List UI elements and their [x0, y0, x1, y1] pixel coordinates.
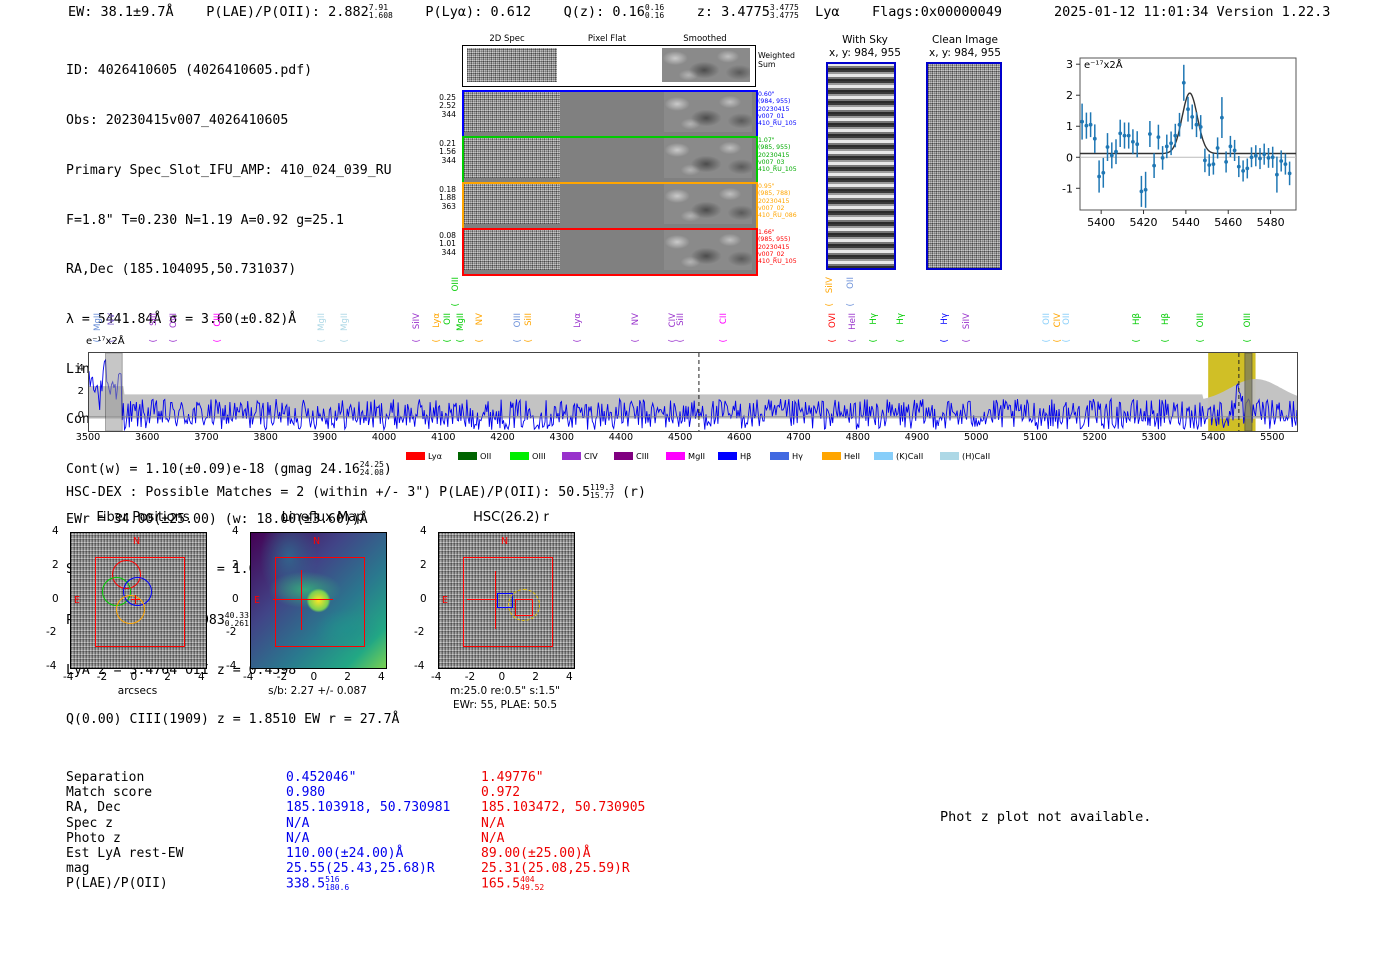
spectrum-xtick: 5100: [1023, 432, 1047, 443]
legend-label: MgII: [688, 451, 705, 461]
hsc-r-caption: m:25.0 re:0.5" s:1.5": [420, 685, 590, 697]
fiber-meta-line: (985, 955): [758, 144, 797, 151]
line-marker-Lyα-15: Lyα: [573, 313, 583, 328]
line-marker-OVI-21: OVI: [828, 313, 838, 328]
fiber-smoothed-image: [664, 184, 752, 224]
fiber-pixelflat-image: [560, 230, 661, 270]
header-z: z: 3.4775: [697, 4, 770, 20]
legend-item-HeII: HeII: [822, 451, 860, 461]
fiber-meta-line: (984, 955): [758, 98, 797, 105]
fiber-meta-2: 1.07"(985, 955)20230415v007_03410_RU_105: [758, 137, 797, 173]
match-row-label: Est LyA rest-EW: [66, 846, 281, 861]
emission-line-plot: 54005420544054605480-10123e⁻¹⁷x2Å: [1036, 44, 1304, 244]
fiber-positions-title: Fiber Positions: [58, 510, 228, 525]
fiber-meta-4: 1.66"(985, 955)20230415v007_02410_RU_105: [758, 229, 797, 265]
fiber-meta-3: 0.95"(985, 788)20230415v007_02410_RU_086: [758, 183, 797, 219]
line-marker-bracket: (: [340, 339, 350, 343]
hsc-crosshair-h: [467, 599, 497, 600]
cutout-ytick: 2: [232, 559, 239, 571]
spectrum-xtick: 5400: [1201, 432, 1225, 443]
spectrum-xtick: 5500: [1260, 432, 1284, 443]
legend-label: Hγ: [792, 451, 803, 461]
line-marker-bracket: (: [1132, 339, 1142, 343]
legend-item-OIII: OIII: [510, 451, 546, 461]
legend-label: (H)CaII: [962, 451, 990, 461]
fiber-center-mark-v: [135, 595, 136, 604]
line-marker-CIII-4: CIII: [213, 313, 223, 327]
line-marker-Hβ-31: Hβ: [1132, 313, 1142, 325]
line-marker-MgII-11: MgII: [456, 313, 466, 331]
fiber-2dspec-image: [464, 184, 560, 224]
info-seeing: F=1.8" T=0.230 N=1.19 A=0.92 g=25.1: [66, 213, 399, 230]
info-q-ciii: Q(0.00) CIII(1909) z = 1.8510 EW r = 27.…: [66, 712, 399, 729]
line-marker-OII-9: OII: [443, 313, 453, 325]
line-marker-OIII-10: OIII: [451, 277, 461, 291]
cutout-xtick: 2: [164, 671, 171, 683]
weighted-sum-pixelflat-image: [560, 48, 659, 82]
cutout-ytick: -2: [226, 626, 236, 638]
legend-item-Hβ: Hβ: [718, 451, 751, 461]
match-row-blue-value: 0.452046": [286, 770, 356, 785]
cutout-xtick: -2: [97, 671, 107, 683]
fiber-pixelflat-image: [560, 92, 661, 132]
match-row-red-value: 25.31(25.08,25.59)R: [481, 861, 630, 876]
cutout-ytick: 2: [52, 559, 59, 571]
legend-label: CIII: [636, 451, 649, 461]
match-row-label: Photo z: [66, 831, 281, 846]
legend-label: HeII: [844, 451, 860, 461]
svg-text:1: 1: [1066, 120, 1073, 133]
cutout-ytick: -4: [414, 660, 424, 672]
header-z-lo: 3.4775: [770, 12, 799, 20]
fiber-meta-line: 20230415: [758, 152, 797, 159]
lineflux-map-title: Lineflux Map: [238, 510, 408, 525]
cutout-xtick: -2: [465, 671, 475, 683]
fiber-meta-line: 20230415: [758, 244, 797, 251]
spectrum-xtick: 4900: [905, 432, 929, 443]
line-marker-bracket: (: [1161, 339, 1171, 343]
spec2d-title-pixelflat: Pixel Flat: [558, 34, 656, 44]
fiber-row-1: [462, 90, 758, 138]
cutout-xtick: -4: [431, 671, 441, 683]
legend-swatch: [458, 452, 477, 460]
spectrum-x-axis: 3500360037003800390040004100420043004400…: [88, 432, 1296, 448]
match-row-blue-value: N/A: [286, 816, 309, 831]
line-marker-NV-1: NV: [107, 313, 117, 325]
line-marker-bracket: (: [1062, 339, 1072, 343]
match-row-red-value: 1.49776": [481, 770, 544, 785]
blue-plae-lo: 180.6: [325, 884, 349, 892]
spec2d-title-smoothed: Smoothed: [660, 34, 750, 44]
line-marker-bracket: (: [475, 339, 485, 343]
fiber-row-3: [462, 182, 758, 230]
line-marker-MgII-6: MgII: [340, 313, 350, 331]
spectrum-xtick: 4600: [727, 432, 751, 443]
cutout-xtick: 4: [566, 671, 573, 683]
match-row-label: P(LAE)/P(OII): [66, 876, 281, 891]
fiber-weight-value: 344: [424, 111, 456, 119]
line-marker-bracket: (: [412, 339, 422, 343]
fiber-smoothed-image: [664, 138, 752, 178]
line-marker-OII-28: OII: [1042, 313, 1052, 325]
fiber-weights-3: 0.181.88363: [424, 186, 456, 211]
cutout-xtick: 4: [198, 671, 205, 683]
fiber-weight-value: 363: [424, 203, 456, 211]
compass-east-label: E: [442, 595, 448, 606]
svg-text:5400: 5400: [1087, 216, 1115, 229]
fiber-row-4: [462, 228, 758, 276]
spectrum-xtick: 4200: [490, 432, 514, 443]
legend-label: OII: [480, 451, 491, 461]
svg-text:5440: 5440: [1172, 216, 1200, 229]
cutout-xtick: 2: [344, 671, 351, 683]
weighted-sum-row: [462, 45, 756, 87]
fiber-meta-line: (985, 788): [758, 190, 797, 197]
spectrum-xtick: 4500: [668, 432, 692, 443]
spectrum-ytick: 0: [78, 410, 84, 421]
legend-item-KCaII: (K)CaII: [874, 451, 923, 461]
match-row-blue-value: 185.103918, 50.730981: [286, 800, 450, 815]
line-marker-bracket: (: [456, 339, 466, 343]
match-row-label: Match score: [66, 785, 281, 800]
cutout-ytick: 0: [52, 593, 59, 605]
svg-text:2: 2: [1066, 89, 1073, 102]
line-marker-SiIV-7: SiIV: [412, 313, 422, 329]
spectrum-xtick: 5300: [1142, 432, 1166, 443]
legend-swatch: [614, 452, 633, 460]
lineflux-crosshair-h: [273, 599, 333, 600]
line-marker-NV-16: NV: [631, 313, 641, 325]
match-row-red-value: N/A: [481, 816, 504, 831]
fiber-meta-line: 0.60": [758, 91, 797, 98]
fiber-meta-line: v007_02: [758, 251, 797, 258]
timestamp-version: 2025-01-12 11:01:34 Version 1.22.3: [1054, 4, 1330, 20]
svg-text:e⁻¹⁷x2Å: e⁻¹⁷x2Å: [1084, 58, 1123, 71]
compass-east-label: E: [74, 595, 80, 606]
line-marker-bracket: (: [1243, 339, 1253, 343]
spectrum-xtick: 4000: [372, 432, 396, 443]
header-plae-lo: 1.608: [369, 12, 393, 20]
compass-north-label: N: [313, 536, 320, 547]
cutout-fiber-positions: Fiber Positions N E -4-2024420-2-4 arcse…: [58, 510, 228, 700]
match-row-blue-value: 0.980: [286, 785, 325, 800]
with-sky-image: [826, 62, 896, 270]
line-marker-bracket: (: [573, 339, 583, 343]
lineflux-aperture-box: [275, 557, 365, 647]
line-marker-OII-30: OII: [1062, 313, 1072, 325]
legend-label: CIV: [584, 451, 598, 461]
weighted-sum-2dspec-image: [467, 48, 557, 82]
line-marker-OVI-3: OVI: [169, 313, 179, 328]
legend-swatch: [666, 452, 685, 460]
cutout-ytick: -4: [226, 660, 236, 672]
line-marker-Hγ-26: Hγ: [940, 313, 950, 325]
cutout-ytick: 4: [232, 525, 239, 537]
legend-item-CIII: CIII: [614, 451, 649, 461]
match-row-label: RA, Dec: [66, 800, 281, 815]
header-qz: Q(z): 0.16: [564, 4, 645, 20]
fiber-positions-image: N E: [70, 532, 207, 669]
match-row-label: Separation: [66, 770, 281, 785]
fiber-weight-value: 344: [424, 249, 456, 257]
header-plya: P(Lyα): 0.612: [425, 4, 531, 20]
line-marker-OIII-13: OIII: [513, 313, 523, 327]
spectrum-ytick: 4: [78, 363, 84, 374]
line-marker-bracket: (: [149, 339, 159, 343]
legend-label: (K)CaII: [896, 451, 923, 461]
match-row-red-value: 165.540449.52: [481, 876, 544, 892]
spectrum-xtick: 5200: [1082, 432, 1106, 443]
clean-image-title: Clean Image: [920, 34, 1010, 46]
line-marker-MgII-0: MgII: [93, 313, 103, 331]
line-marker-bracket: (: [896, 339, 906, 343]
fiber-smoothed-image: [664, 230, 752, 270]
cutout-ytick: -2: [414, 626, 424, 638]
match-row-label: mag: [66, 861, 281, 876]
line-marker-bracket: (: [443, 339, 453, 343]
spectrum-xtick: 4400: [609, 432, 633, 443]
cutout-xtick: 0: [311, 671, 318, 683]
fiber-row-2: [462, 136, 758, 184]
match-row-blue-value: N/A: [286, 831, 309, 846]
line-marker-SiIV-27: SiIV: [962, 313, 972, 329]
fiber-2dspec-image: [464, 92, 560, 132]
weighted-sum-label: Weighted Sum: [758, 51, 795, 69]
line-marker-bracket: (: [513, 339, 523, 343]
line-marker-Lyα-8: Lyα: [432, 313, 442, 328]
line-marker-bracket: (: [317, 339, 327, 343]
svg-text:5460: 5460: [1214, 216, 1242, 229]
fiber-pixelflat-image: [560, 184, 661, 224]
full-spectrum-plot: [88, 352, 1298, 432]
compass-north-label: N: [501, 536, 508, 547]
fiber-weights-2: 0.211.56344: [424, 140, 456, 165]
fiber-meta-line: 1.66": [758, 229, 797, 236]
cutout-ytick: 4: [52, 525, 59, 537]
hsc-r-caption2: EWr: 55, PLAE: 50.5: [420, 699, 590, 711]
spectrum-xtick: 4800: [846, 432, 870, 443]
cutout-xtick: 4: [378, 671, 385, 683]
legend-item-CIV: CIV: [562, 451, 598, 461]
line-marker-CII-19: CII: [719, 313, 729, 324]
line-marker-OII-22: OII: [846, 277, 856, 289]
fiber-weights-4: 0.081.01344: [424, 232, 456, 257]
fiber-smoothed-image: [664, 92, 752, 132]
line-marker-SiII-18: SiII: [676, 313, 686, 326]
legend-item-HCaII: (H)CaII: [940, 451, 990, 461]
fiber-weight-value: 344: [424, 157, 456, 165]
spectrum-xtick: 3600: [135, 432, 159, 443]
cutout-ytick: 2: [420, 559, 427, 571]
cutout-xtick: 2: [532, 671, 539, 683]
red-plae-lo: 49.52: [520, 884, 544, 892]
header-z-type: Lyα: [815, 4, 839, 20]
match-row-red-value: 0.972: [481, 785, 520, 800]
fiber-meta-line: 1.07": [758, 137, 797, 144]
match-row-red-value: 185.103472, 50.730905: [481, 800, 645, 815]
weighted-sum-smoothed-image: [662, 48, 750, 82]
header-qz-lo: 0.16: [645, 12, 664, 20]
cutout-xtick: -2: [277, 671, 287, 683]
fiber-meta-line: 410_RU_105: [758, 120, 797, 127]
line-marker-bracket: (: [828, 339, 838, 343]
line-marker-SiIV-20: SiIV: [825, 277, 835, 293]
line-marker-MgII-5: MgII: [317, 313, 327, 331]
line-marker-OIII-33: OIII: [1196, 313, 1206, 327]
line-marker-bracket: (: [524, 339, 534, 343]
line-marker-bracket: (: [676, 339, 686, 343]
spectrum-xtick: 4700: [786, 432, 810, 443]
spectrum-xtick: 3700: [194, 432, 218, 443]
fiber-weights-1: 0.252.52344: [424, 94, 456, 119]
line-marker-bracket: (: [213, 339, 223, 343]
legend-item-Lyα: Lyα: [406, 451, 442, 461]
line-marker-bracket: (: [432, 339, 442, 343]
line-marker-bracket: (: [719, 339, 729, 343]
line-marker-bracket: (: [169, 339, 179, 343]
cutout-ytick: 0: [232, 593, 239, 605]
legend-label: Lyα: [428, 451, 442, 461]
fiber-meta-line: 0.95": [758, 183, 797, 190]
line-marker-HeII-23: HeII: [848, 313, 858, 330]
legend-item-MgII: MgII: [666, 451, 705, 461]
header-ew: EW: 38.1±9.7Å: [68, 4, 174, 20]
spectrum-xtick: 5000: [964, 432, 988, 443]
cutout-xtick: 0: [131, 671, 138, 683]
spectrum-xtick: 4300: [550, 432, 574, 443]
line-marker-bracket: (: [1042, 339, 1052, 343]
cutout-hsc-r: HSC(26.2) r N E -4-2024420-2-4 m:25.0 re…: [426, 510, 596, 715]
line-marker-bracket: (: [848, 339, 858, 343]
fiber-2dspec-image: [464, 138, 560, 178]
with-sky-xy: x, y: 984, 955: [820, 47, 910, 59]
fiber-meta-line: 410_RU_086: [758, 212, 797, 219]
full-spectrum-svg: [89, 353, 1297, 431]
fiber-meta-line: 20230415: [758, 106, 797, 113]
fiber-positions-caption: arcsecs: [70, 685, 205, 697]
fiber-meta-1: 0.60"(984, 955)20230415v007_01410_RU_105: [758, 91, 797, 127]
fiber-meta-line: v007_03: [758, 159, 797, 166]
photz-note: Phot z plot not available.: [940, 809, 1151, 825]
lineflux-map-image: N E: [250, 532, 387, 669]
spectrum-yunit: e⁻¹⁷x2Å: [86, 336, 125, 347]
match-row-blue-value: 25.55(25.43,25.68)R: [286, 861, 435, 876]
fiber-2dspec-image: [464, 230, 560, 270]
match-row-red-value: 89.00(±25.00)Å: [481, 846, 591, 861]
lineflux-map-caption: s/b: 2.27 +/- 0.087: [240, 685, 395, 697]
cutout-xtick: -4: [63, 671, 73, 683]
info-obs: Obs: 20230415v007_4026410605: [66, 113, 399, 130]
cutout-ytick: -2: [46, 626, 56, 638]
legend-swatch: [940, 452, 959, 460]
svg-text:5480: 5480: [1257, 216, 1285, 229]
cutout-lineflux-map: Lineflux Map N E -4-2024420-2-4 s/b: 2.2…: [238, 510, 408, 700]
info-primary-spec: Primary Spec_Slot_IFU_AMP: 410_024_039_R…: [66, 163, 399, 180]
spectrum-legend: LyαOIIOIIICIVCIIIMgIIHβHγHeII(K)CaII(H)C…: [88, 451, 1296, 465]
spectrum-y-axis: 024e⁻¹⁷x2Å: [60, 352, 88, 432]
line-marker-Hβ-32: Hβ: [1161, 313, 1171, 325]
hsc-aperture-circle: [508, 589, 540, 621]
line-marker-bracket: (: [846, 303, 856, 307]
legend-swatch: [822, 452, 841, 460]
spectrum-xtick: 3500: [76, 432, 100, 443]
legend-swatch: [562, 452, 581, 460]
cutout-ytick: -4: [46, 660, 56, 672]
match-row-blue-value: 110.00(±24.00)Å: [286, 846, 403, 861]
match-row-red-value: N/A: [481, 831, 504, 846]
hsc-dex-summary: HSC-DEX : Possible Matches = 2 (within +…: [66, 484, 646, 500]
fiber-meta-line: v007_02: [758, 205, 797, 212]
header-flags: Flags:0x00000049: [872, 4, 1002, 20]
header-plae: P(LAE)/P(OII): 2.882: [206, 4, 369, 20]
compass-east-label: E: [254, 595, 260, 606]
legend-label: Hβ: [740, 451, 751, 461]
with-sky-title: With Sky: [826, 34, 904, 46]
legend-swatch: [406, 452, 425, 460]
fiber-meta-line: (985, 955): [758, 236, 797, 243]
line-marker-SiII-14: SiII: [524, 313, 534, 326]
line-marker-bracket: (: [962, 339, 972, 343]
legend-swatch: [770, 452, 789, 460]
line-marker-bracket: (: [869, 339, 879, 343]
spec2d-title-2dspec: 2D Spec: [462, 34, 552, 44]
svg-text:-1: -1: [1062, 182, 1073, 195]
spectrum-xtick: 3900: [313, 432, 337, 443]
emission-line-svg: 54005420544054605480-10123e⁻¹⁷x2Å: [1036, 44, 1304, 244]
hsc-r-title: HSC(26.2) r: [426, 510, 596, 525]
line-marker-bracket: (: [631, 339, 641, 343]
clean-image: [926, 62, 1002, 270]
fiber-meta-line: 20230415: [758, 198, 797, 205]
line-marker-bracket: (: [1196, 339, 1206, 343]
spectrum-ytick: 2: [78, 386, 84, 397]
legend-item-OII: OII: [458, 451, 491, 461]
legend-label: OIII: [532, 451, 546, 461]
line-marker-bracket: (: [451, 303, 461, 307]
fiber-meta-line: v007_01: [758, 113, 797, 120]
line-marker-SiII-2: SiII: [149, 313, 159, 326]
header-summary-line: EW: 38.1±9.7Å P(LAE)/P(OII): 2.8827.911.…: [68, 4, 1002, 20]
compass-north-label: N: [133, 536, 140, 547]
cutout-ytick: 4: [420, 525, 427, 537]
svg-text:5420: 5420: [1130, 216, 1158, 229]
svg-text:0: 0: [1066, 151, 1073, 164]
legend-item-Hγ: Hγ: [770, 451, 803, 461]
line-marker-bracket: (: [940, 339, 950, 343]
match-row-label: Spec z: [66, 816, 281, 831]
match-row-blue-value: 338.5516180.6: [286, 876, 349, 892]
line-marker-OIII-34: OIII: [1243, 313, 1253, 327]
legend-swatch: [874, 452, 893, 460]
legend-swatch: [510, 452, 529, 460]
fiber-meta-line: 410_RU_105: [758, 258, 797, 265]
cutout-xtick: -4: [243, 671, 253, 683]
line-marker-Hγ-24: Hγ: [869, 313, 879, 325]
spectrum-xtick: 4100: [431, 432, 455, 443]
line-marker-Hγ-25: Hγ: [896, 313, 906, 325]
cutout-ytick: 0: [420, 593, 427, 605]
hsc-r-image: N E: [438, 532, 575, 669]
fiber-meta-line: 410_RU_105: [758, 166, 797, 173]
line-marker-NV-12: NV: [475, 313, 485, 325]
spectrum-xtick: 3800: [253, 432, 277, 443]
clean-image-xy: x, y: 984, 955: [920, 47, 1010, 59]
info-id: ID: 4026410605 (4026410605.pdf): [66, 63, 399, 80]
svg-text:3: 3: [1066, 58, 1073, 71]
cutout-xtick: 0: [499, 671, 506, 683]
fiber-pixelflat-image: [560, 138, 661, 178]
legend-swatch: [718, 452, 737, 460]
